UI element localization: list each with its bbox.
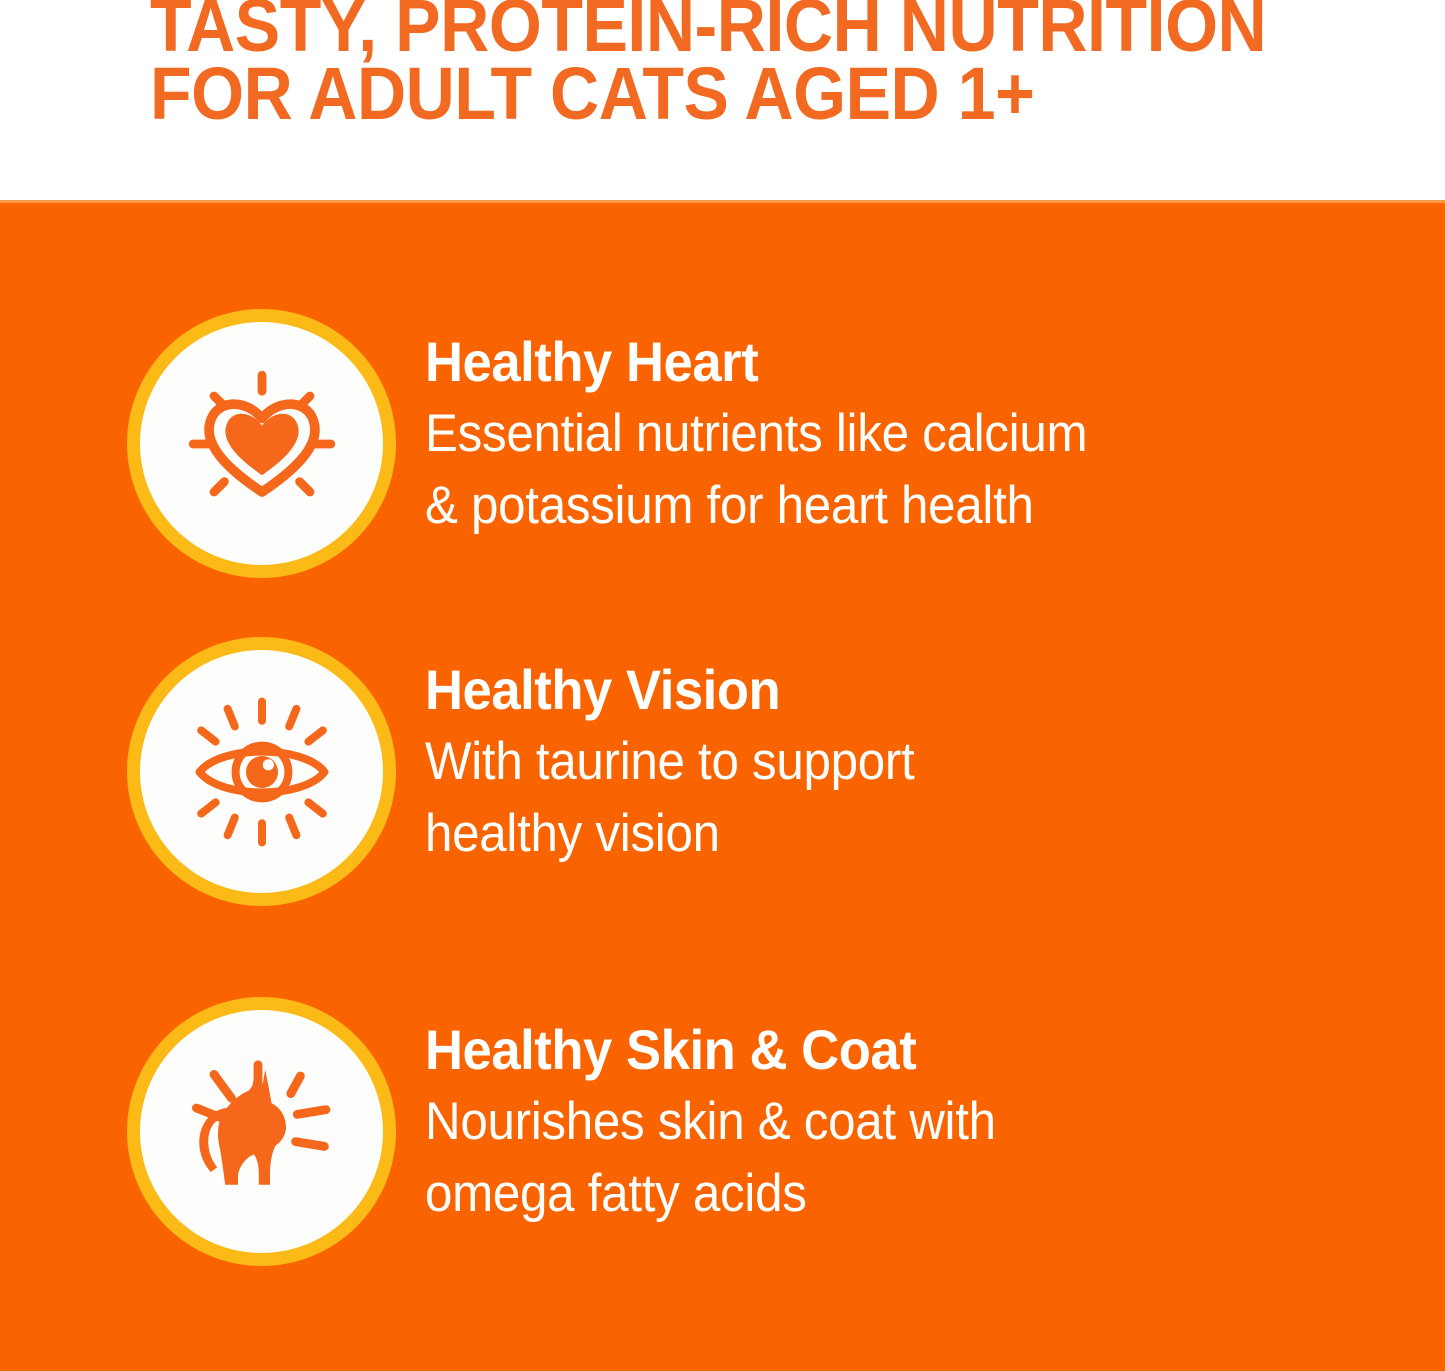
benefit-text-block: Healthy Skin & Coat Nourishes skin & coa… <box>425 1020 1385 1230</box>
benefit-item-healthy-skin-coat: Healthy Skin & Coat Nourishes skin & coa… <box>0 1010 1445 1310</box>
benefit-text-block: Healthy Vision With taurine to support h… <box>425 660 1385 870</box>
benefit-title: Healthy Skin & Coat <box>425 1020 1327 1080</box>
benefit-text-block: Healthy Heart Essential nutrients like c… <box>425 332 1385 542</box>
panel-top-divider <box>0 200 1445 203</box>
benefit-description: With taurine to support healthy vision <box>425 726 1318 870</box>
benefit-icon-badge <box>140 650 383 893</box>
benefit-icon-badge <box>140 1010 383 1253</box>
benefits-panel: Healthy Heart Essential nutrients like c… <box>0 200 1445 1371</box>
benefit-description: Essential nutrients like calcium & potas… <box>425 398 1318 542</box>
headline-band: TASTY, PROTEIN-RICH NUTRITION FOR ADULT … <box>0 0 1445 200</box>
benefit-icon-badge <box>140 322 383 565</box>
eye-rays-icon <box>182 692 342 852</box>
page-title: TASTY, PROTEIN-RICH NUTRITION FOR ADULT … <box>150 0 1282 128</box>
cat-rays-icon <box>182 1052 342 1212</box>
product-benefits-infographic: TASTY, PROTEIN-RICH NUTRITION FOR ADULT … <box>0 0 1445 1371</box>
benefit-description: Nourishes skin & coat with omega fatty a… <box>425 1086 1318 1230</box>
benefit-item-healthy-heart: Healthy Heart Essential nutrients like c… <box>0 322 1445 622</box>
benefit-title: Healthy Heart <box>425 332 1327 392</box>
heart-rays-icon <box>182 364 342 524</box>
benefit-item-healthy-vision: Healthy Vision With taurine to support h… <box>0 650 1445 950</box>
benefit-title: Healthy Vision <box>425 660 1327 720</box>
